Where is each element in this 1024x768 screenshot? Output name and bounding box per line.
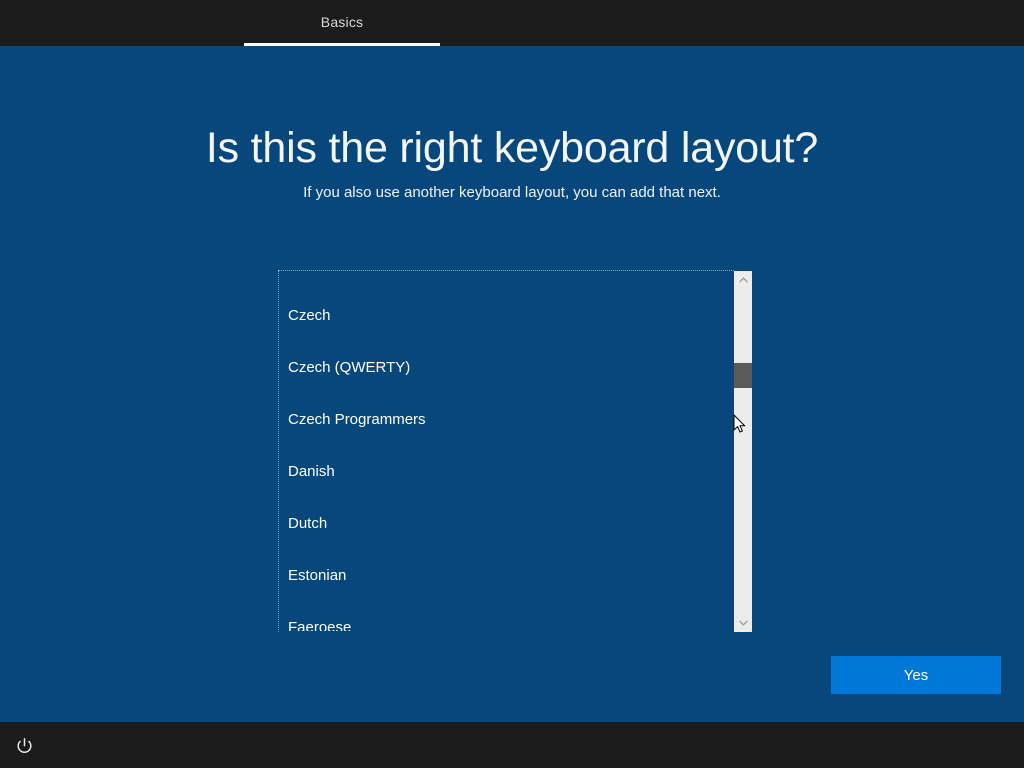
- keyboard-layout-list[interactable]: Czech Czech (QWERTY) Czech Programmers D…: [278, 270, 734, 632]
- page-title: Is this the right keyboard layout?: [0, 124, 1024, 173]
- bottom-chrome-bar: [0, 722, 1024, 768]
- main-content: Is this the right keyboard layout? If yo…: [0, 46, 1024, 722]
- list-item[interactable]: Czech (QWERTY): [288, 353, 410, 383]
- list-item[interactable]: Dutch: [288, 509, 327, 539]
- list-item[interactable]: Czech: [288, 301, 331, 331]
- page-subtitle: If you also use another keyboard layout,…: [0, 184, 1024, 201]
- keyboard-layout-list-container: Czech Czech (QWERTY) Czech Programmers D…: [278, 270, 752, 632]
- list-scrollbar[interactable]: [734, 271, 752, 632]
- scrollbar-thumb[interactable]: [734, 363, 752, 388]
- list-item[interactable]: Faeroese: [288, 613, 351, 632]
- power-icon[interactable]: [11, 733, 37, 759]
- list-item[interactable]: Czech Programmers: [288, 405, 426, 435]
- chevron-down-icon[interactable]: [734, 614, 752, 632]
- chevron-up-icon[interactable]: [734, 271, 752, 289]
- list-item[interactable]: Danish: [288, 457, 335, 487]
- oobe-screen: Basics Is this the right keyboard layout…: [0, 0, 1024, 768]
- yes-button[interactable]: Yes: [831, 656, 1001, 694]
- tab-basics[interactable]: Basics: [244, 0, 440, 46]
- top-chrome-bar: Basics: [0, 0, 1024, 46]
- list-item[interactable]: Estonian: [288, 561, 346, 591]
- tab-basics-label: Basics: [321, 14, 363, 30]
